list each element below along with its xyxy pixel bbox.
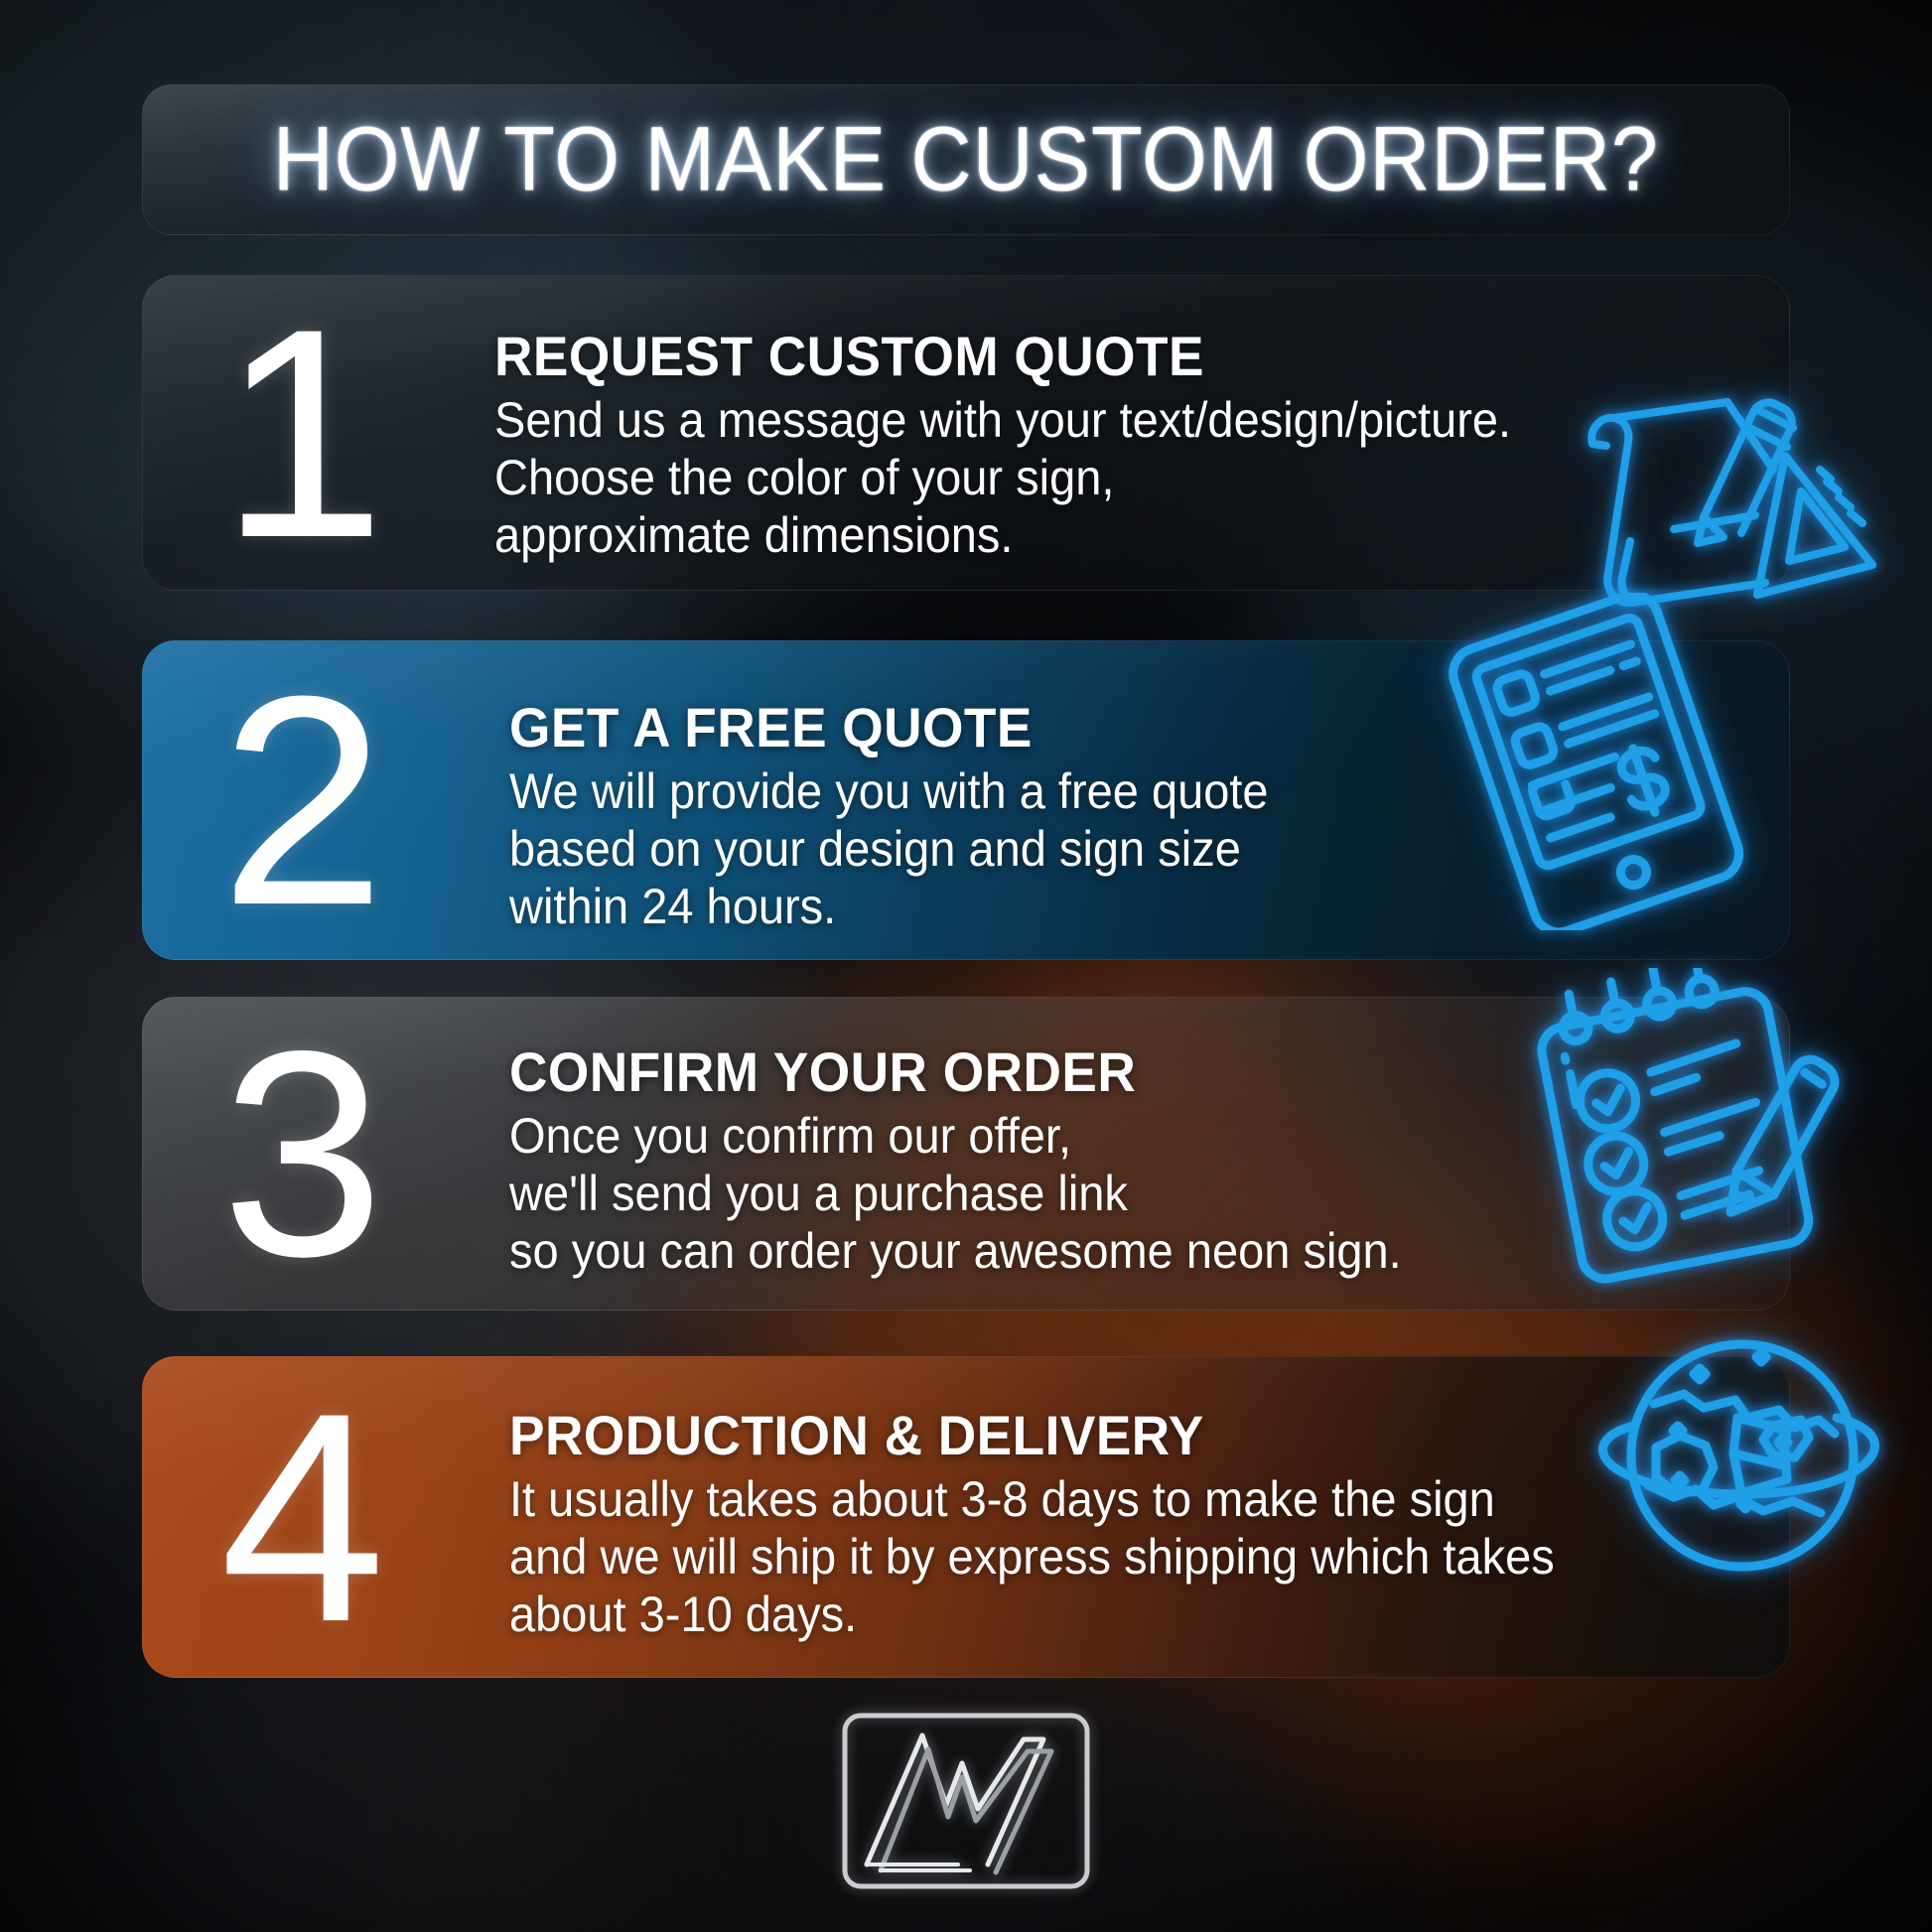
step-title-text: GET A FREE QUOTE	[509, 698, 1033, 757]
step-body-line: Send us a message with your text/design/…	[494, 391, 1511, 449]
step-title-2: GET A FREE QUOTE	[509, 698, 1750, 757]
step-title-4: PRODUCTION & DELIVERY	[509, 1406, 1750, 1464]
step-number-3: 3	[187, 1039, 415, 1268]
step-number-2: 2	[187, 684, 415, 916]
step-body-line: within 24 hours.	[509, 878, 836, 935]
step-number-1: 1	[187, 317, 415, 549]
step-body-line: and we will ship it by express shipping …	[509, 1528, 1555, 1586]
page-title-text: HOW TO MAKE CUSTOM ORDER?	[273, 108, 1659, 212]
step-title-text: PRODUCTION & DELIVERY	[509, 1406, 1204, 1464]
step-text-block-4: PRODUCTION & DELIVERY It usually takes a…	[509, 1406, 1750, 1643]
step-card-4: 4 PRODUCTION & DELIVERY It usually takes…	[142, 1356, 1790, 1678]
step-body-2: We will provide you with a free quote ba…	[509, 762, 1750, 935]
brand-logo	[839, 1694, 1093, 1908]
step-body-line: Once you confirm our offer,	[509, 1107, 1071, 1165]
step-body-1: Send us a message with your text/design/…	[494, 391, 1750, 564]
step-body-line: approximate dimensions.	[494, 506, 1013, 564]
step-body-line: It usually takes about 3-8 days to make …	[509, 1470, 1495, 1528]
step-body-line: we'll send you a purchase link	[509, 1165, 1128, 1222]
step-body-line: Choose the color of your sign,	[494, 449, 1114, 506]
title-card: HOW TO MAKE CUSTOM ORDER?	[142, 84, 1790, 235]
step-text-block-3: CONFIRM YOUR ORDER Once you confirm our …	[509, 1042, 1750, 1280]
step-card-1: 1 REQUEST CUSTOM QUOTE Send us a message…	[142, 275, 1790, 591]
step-title-text: REQUEST CUSTOM QUOTE	[494, 327, 1204, 385]
step-text-block-1: REQUEST CUSTOM QUOTE Send us a message w…	[494, 327, 1750, 564]
step-title-1: REQUEST CUSTOM QUOTE	[494, 327, 1750, 385]
page-title: HOW TO MAKE CUSTOM ORDER?	[142, 108, 1790, 212]
step-body-line: based on your design and sign size	[509, 820, 1241, 878]
step-body-line: We will provide you with a free quote	[509, 762, 1269, 820]
step-body-line: so you can order your awesome neon sign.	[509, 1222, 1402, 1280]
step-card-3: 3 CONFIRM YOUR ORDER Once you confirm ou…	[142, 997, 1790, 1311]
step-body-3: Once you confirm our offer, we'll send y…	[509, 1107, 1750, 1280]
step-title-3: CONFIRM YOUR ORDER	[509, 1042, 1750, 1101]
step-body-line: about 3-10 days.	[509, 1586, 857, 1643]
step-title-text: CONFIRM YOUR ORDER	[509, 1042, 1136, 1101]
step-number-4: 4	[187, 1401, 415, 1633]
step-text-block-2: GET A FREE QUOTE We will provide you wit…	[509, 698, 1750, 935]
step-body-4: It usually takes about 3-8 days to make …	[509, 1470, 1750, 1643]
step-card-2: 2 GET A FREE QUOTE We will provide you w…	[142, 640, 1790, 960]
